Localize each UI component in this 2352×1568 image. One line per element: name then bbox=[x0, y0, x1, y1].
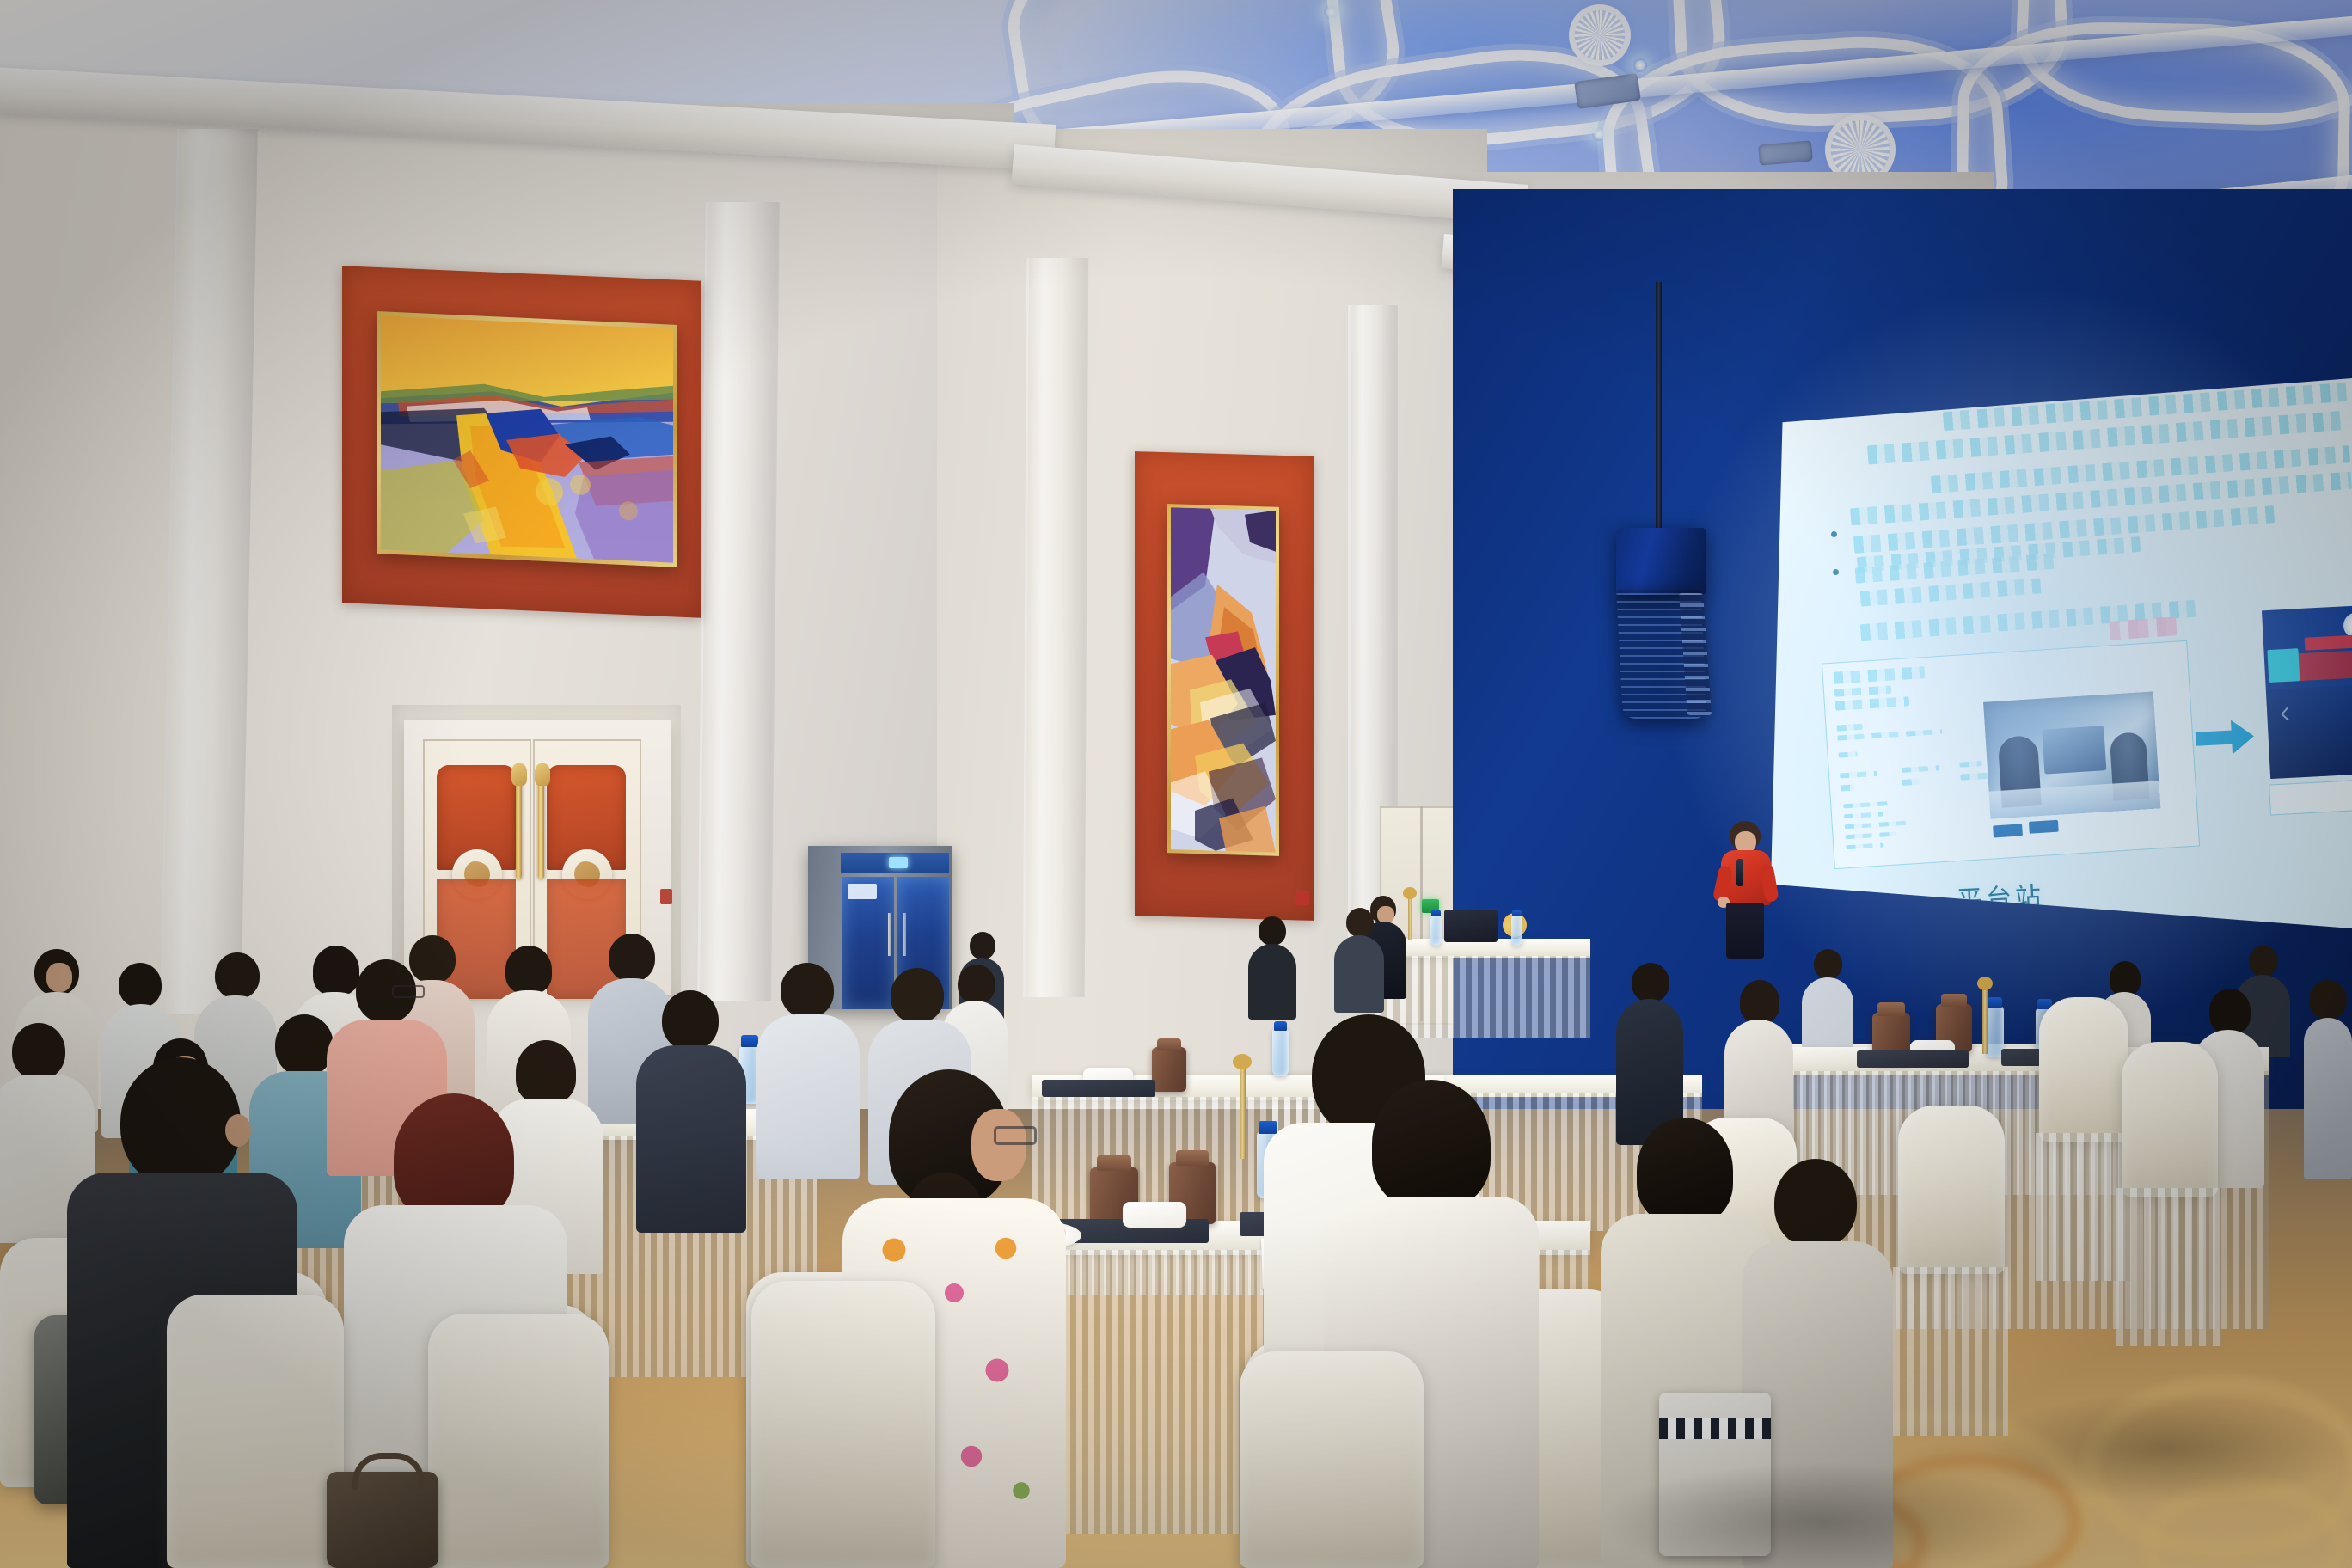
tea-pitcher bbox=[1152, 1047, 1186, 1092]
person-hair bbox=[505, 946, 552, 994]
door-handle-left[interactable] bbox=[516, 775, 522, 879]
table-microphone bbox=[1982, 987, 1988, 1054]
bottle-cap bbox=[1988, 997, 2002, 1008]
banquet-chair[interactable] bbox=[1240, 1351, 1424, 1568]
folded-towel bbox=[1123, 1202, 1186, 1228]
banquet-chair[interactable] bbox=[167, 1295, 344, 1568]
slide-photo-button[interactable] bbox=[2029, 820, 2059, 834]
person-hair bbox=[2209, 989, 2251, 1033]
tea-pitcher-lid bbox=[1097, 1155, 1131, 1171]
person-hair bbox=[1637, 1118, 1733, 1224]
audience-member bbox=[1802, 949, 1853, 1056]
card-badge bbox=[1835, 696, 1910, 710]
person-face bbox=[46, 963, 72, 992]
person-face bbox=[971, 1109, 1026, 1181]
door-knob-right[interactable] bbox=[535, 763, 550, 786]
refrigerator-label bbox=[848, 884, 877, 899]
ceiling-downlight bbox=[1324, 4, 1339, 20]
audience-member bbox=[636, 990, 746, 1231]
banquet-chair[interactable] bbox=[2039, 997, 2128, 1142]
app-content-area bbox=[2266, 683, 2352, 779]
banquet-chair[interactable] bbox=[428, 1314, 609, 1568]
wall-pilaster bbox=[697, 202, 780, 1001]
refrigerator-display bbox=[889, 857, 908, 868]
person-head bbox=[781, 963, 834, 1018]
person-head bbox=[215, 952, 260, 999]
table-microphone-head bbox=[1977, 977, 1993, 990]
slide-bullet-text bbox=[1860, 578, 2042, 606]
photo-monitor bbox=[2042, 726, 2106, 774]
tote-bag-stripe bbox=[1659, 1418, 1771, 1439]
wall-pilaster bbox=[1023, 258, 1089, 997]
door-knob-left[interactable] bbox=[511, 763, 527, 786]
vertical-painting-frame bbox=[1167, 504, 1279, 856]
table-microphone bbox=[1240, 1066, 1246, 1159]
person-head bbox=[609, 934, 655, 982]
audience-member bbox=[1616, 963, 1683, 1143]
card-list-item bbox=[1845, 820, 1912, 829]
person-torso bbox=[1802, 977, 1853, 1057]
slide-arrow-icon bbox=[2195, 717, 2255, 757]
card-subtitle bbox=[1834, 686, 1891, 697]
person-torso bbox=[1248, 944, 1296, 1020]
card-list-item bbox=[1843, 801, 1888, 808]
person-head bbox=[2309, 980, 2347, 1020]
slide-photo-button[interactable] bbox=[1993, 824, 2023, 837]
audience-member bbox=[1248, 916, 1296, 1020]
card-list-item bbox=[1845, 832, 1896, 840]
slide-meeting-photo bbox=[1983, 691, 2160, 818]
person-hair bbox=[1740, 980, 1779, 1023]
audience-member bbox=[2304, 980, 2352, 1178]
line-array-speaker bbox=[1616, 528, 1706, 595]
landscape-painting-canvas bbox=[381, 315, 673, 562]
slide-subheading-highlight bbox=[2109, 616, 2177, 640]
handheld-microphone bbox=[1736, 859, 1743, 886]
person-hair bbox=[394, 1093, 514, 1222]
card-list-item bbox=[1846, 842, 1883, 849]
person-hair bbox=[2110, 961, 2141, 995]
eyeglasses bbox=[392, 985, 425, 998]
app-badge-red bbox=[2305, 635, 2352, 651]
eyeglasses bbox=[994, 1126, 1037, 1145]
card-body bbox=[1838, 751, 1857, 757]
tea-pitcher-lid bbox=[1941, 994, 1967, 1007]
slide-phone-caption-box bbox=[2269, 780, 2352, 815]
person-head bbox=[1259, 916, 1286, 946]
person-head bbox=[2249, 946, 2278, 977]
conference-hall-photo: 平台站 bbox=[0, 0, 2352, 1568]
person-head bbox=[1346, 908, 1374, 937]
person-head bbox=[970, 932, 995, 959]
speaker-suspension-rod bbox=[1656, 282, 1662, 531]
person-head bbox=[1774, 1159, 1857, 1248]
tea-pitcher-lid bbox=[1157, 1038, 1181, 1050]
person-hair bbox=[1372, 1080, 1491, 1209]
person-head bbox=[1814, 949, 1842, 979]
banquet-chair[interactable] bbox=[2122, 1042, 2218, 1197]
placemat bbox=[1857, 1050, 1969, 1068]
person-head bbox=[1632, 963, 1669, 1002]
app-tile-cyan bbox=[2267, 648, 2300, 683]
person-torso bbox=[1334, 935, 1384, 1013]
ceiling-rosette bbox=[1831, 120, 1890, 179]
card-stat-value bbox=[1902, 779, 1920, 786]
wall-switch[interactable] bbox=[660, 889, 672, 904]
slide-listing-card bbox=[1822, 640, 2200, 869]
person-torso bbox=[2304, 1018, 2352, 1179]
tea-pitcher-lid bbox=[1176, 1150, 1209, 1166]
wall-pilaster bbox=[160, 129, 258, 1014]
banquet-chair[interactable] bbox=[1898, 1106, 2005, 1274]
card-body bbox=[1836, 724, 1862, 732]
banquet-chair[interactable] bbox=[751, 1281, 935, 1568]
slide-bullet-marker bbox=[1833, 569, 1839, 575]
person-head bbox=[120, 1057, 241, 1188]
slide-mobile-app-mockup bbox=[2262, 603, 2352, 779]
card-stat-label bbox=[1959, 761, 1981, 768]
ceiling-downlight bbox=[1592, 127, 1606, 141]
card-list-item bbox=[1844, 812, 1883, 818]
person-head bbox=[891, 968, 944, 1023]
landscape-painting-frame bbox=[377, 311, 677, 567]
chair-skirt bbox=[2116, 1188, 2221, 1346]
ceiling-rosette bbox=[1575, 10, 1625, 60]
person-head bbox=[12, 1023, 65, 1080]
person-ear bbox=[225, 1114, 251, 1147]
person-head bbox=[119, 963, 162, 1008]
tote-bag bbox=[1659, 1393, 1771, 1556]
vertical-painting-canvas bbox=[1171, 507, 1276, 853]
tea-pitcher-lid bbox=[1877, 1002, 1905, 1016]
chair-skirt bbox=[1893, 1267, 2008, 1436]
projection-screen: 平台站 bbox=[1771, 378, 2352, 928]
person-torso bbox=[636, 1045, 746, 1233]
card-body bbox=[1837, 729, 1942, 741]
table-microphone-head bbox=[1233, 1054, 1252, 1069]
slide-bullet-marker bbox=[1831, 531, 1837, 537]
person-head bbox=[662, 990, 719, 1050]
door-handle-right[interactable] bbox=[538, 775, 544, 879]
fire-alarm-box bbox=[1295, 891, 1309, 905]
audience-member bbox=[1334, 908, 1384, 1013]
ceiling-downlight bbox=[1633, 58, 1647, 72]
card-stat-value bbox=[1841, 785, 1854, 792]
card-stat-label bbox=[1902, 765, 1939, 773]
card-title bbox=[1834, 666, 1926, 684]
card-stat-label bbox=[1840, 771, 1877, 779]
